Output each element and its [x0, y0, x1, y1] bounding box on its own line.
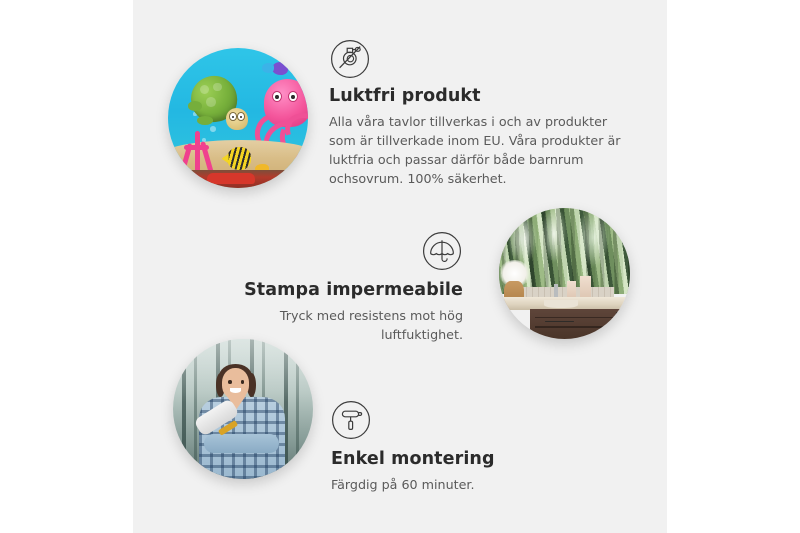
feature-water-resistant: Stampa impermeabile Tryck med resistens …	[197, 231, 463, 344]
turtle-flipper	[197, 116, 213, 125]
feature-title: Enkel montering	[331, 449, 611, 471]
umbrella-icon	[422, 231, 462, 271]
door-handle	[616, 312, 620, 329]
turtle-shell-spot	[200, 85, 209, 94]
painter-scene	[173, 339, 313, 479]
turtle-shell-spot	[206, 97, 216, 107]
turtle-flipper	[188, 101, 203, 111]
sea-turtle-icon	[188, 76, 250, 131]
bathroom-wallpaper-photo	[499, 208, 630, 339]
turtle-eye	[237, 112, 245, 121]
striped-fish-icon	[227, 147, 251, 169]
turtle-eye	[229, 112, 237, 121]
blue-fish-icon	[262, 63, 275, 73]
octopus-eye	[288, 91, 298, 102]
underwater-scene	[168, 48, 308, 188]
feature-easy-mounting: Enkel montering Färgdig på 60 minuter.	[331, 400, 611, 494]
sink-basin	[544, 300, 578, 308]
paint-roller-icon	[331, 400, 371, 440]
purple-fish-icon	[272, 62, 289, 75]
feature-body: Färgdig på 60 minuter.	[331, 475, 611, 494]
folded-arms	[204, 434, 279, 453]
underwater-cartoon-photo	[168, 48, 308, 188]
feature-body: Alla våra tavlor tillverkas i och av pro…	[329, 112, 629, 188]
smile	[230, 388, 241, 393]
vanity-cabinet	[530, 309, 630, 339]
no-perfume-spray-icon	[330, 39, 370, 79]
promo-graphic: Luktfri produkt Alla våra tavlor tillver…	[0, 0, 800, 533]
face	[222, 368, 249, 399]
feature-odour-free: Luktfri produkt Alla våra tavlor tillver…	[329, 39, 629, 188]
eye	[228, 380, 232, 384]
drawer-handle	[545, 321, 574, 322]
coral-branch	[184, 145, 209, 150]
feature-title: Stampa impermeabile	[197, 280, 463, 302]
painter-forest-photo	[173, 339, 313, 479]
octopus-eye	[272, 91, 282, 102]
feature-title: Luktfri produkt	[329, 86, 629, 108]
seabed-foreground-strip	[168, 170, 308, 188]
woman-with-roller	[197, 361, 287, 479]
turtle-head	[226, 108, 248, 130]
bathroom-scene	[499, 208, 630, 339]
eye	[241, 380, 245, 384]
